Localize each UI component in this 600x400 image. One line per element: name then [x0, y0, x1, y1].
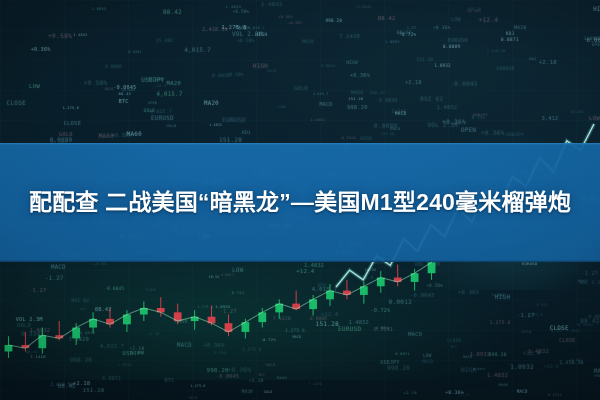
ticker-fragment: MACD — [320, 102, 333, 108]
ticker-fragment: BTC — [164, 378, 174, 384]
ticker-fragment: 998.20 — [207, 368, 229, 374]
ticker-fragment: KDJ — [242, 131, 251, 136]
ticker-fragment: 1,275.6 — [221, 25, 246, 31]
ticker-fragment: 998.20 — [467, 7, 481, 11]
ticker-fragment: MACD — [517, 389, 528, 394]
ticker-fragment: -1.27 — [457, 392, 470, 397]
ticker-fragment: HIGH — [255, 33, 267, 38]
ticker-fragment: +0.36% — [278, 15, 293, 19]
ticker-fragment: MA20 — [167, 81, 181, 87]
ticker-fragment: 1,275.6 — [63, 106, 79, 110]
ticker-fragment: KDJ — [506, 32, 515, 37]
ticker-fragment: -0.0045 — [355, 5, 372, 9]
ticker-fragment: LOW — [29, 84, 40, 90]
ticker-fragment: +2.18 — [404, 390, 417, 395]
ticker-fragment: LOW — [451, 17, 461, 23]
ticker-fragment: +0.36% — [350, 73, 370, 79]
ticker-fragment: EURUSD — [448, 38, 468, 44]
ticker-fragment: 151.28 — [348, 97, 363, 101]
ticker-fragment: BTC — [451, 345, 458, 349]
ticker-fragment: -0.72% — [399, 33, 416, 38]
ticker-fragment: MA60 — [277, 376, 287, 380]
ticker-fragment: 151.28 — [417, 57, 434, 62]
ticker-fragment: 998.20 — [370, 91, 385, 95]
ticker-fragment: 0.3341 — [128, 50, 142, 54]
ticker-fragment: 88.42 — [58, 384, 76, 390]
ticker-fragment: 1.4832 — [437, 105, 458, 111]
ticker-fragment: -0.0045 — [376, 99, 398, 104]
ticker-fragment: 0.0089 — [443, 45, 461, 50]
ticker-fragment: 4,015.7 — [184, 48, 211, 54]
ticker-fragment: 88.42 — [118, 92, 131, 96]
ticker-fragment: +0.58% — [288, 21, 302, 25]
banner-headline: 配配查 二战美国“暗黑龙”—美国M1型240毫米榴弹炮 — [22, 184, 578, 221]
ticker-fragment: MA20 — [204, 101, 219, 107]
ticker-fragment: BTC — [119, 99, 129, 105]
title-banner: 配配查 二战美国“暗黑龙”—美国M1型240毫米榴弹炮 — [0, 143, 600, 262]
ticker-fragment: +0.58% — [237, 39, 254, 44]
ticker-fragment: 4,015.7 — [157, 92, 183, 98]
ticker-fragment: 35,402 — [571, 110, 584, 114]
ticker-fragment: 88.42 — [163, 10, 182, 16]
ticker-fragment: MA60 — [351, 91, 363, 96]
ticker-fragment: MA20 — [189, 396, 198, 400]
ticker-fragment: OPEN — [148, 101, 157, 105]
ticker-fragment: CLOSE — [6, 100, 26, 107]
ticker-fragment: LOW — [278, 105, 285, 109]
ticker-fragment: +12.4 — [523, 351, 540, 357]
ticker-fragment: 998.20 — [347, 105, 368, 111]
ticker-fragment: 0.8871 — [501, 38, 519, 43]
ticker-fragment: MA60 — [499, 383, 509, 387]
ticker-fragment: 0.8871 — [102, 377, 121, 382]
ticker-fragment: +12.4 — [479, 17, 499, 24]
ticker-fragment: MACD — [594, 369, 600, 375]
ticker-fragment: 1.0932 — [435, 63, 451, 68]
ticker-fragment: -1.27 — [404, 26, 416, 30]
ticker-fragment: +12.4 — [155, 84, 166, 88]
ticker-fragment: +0.36% — [112, 133, 131, 139]
ticker-fragment: 998.20 — [326, 18, 343, 23]
ticker-fragment: 0.3341 — [548, 393, 562, 397]
ticker-fragment: 1.4832 — [311, 118, 325, 122]
ticker-fragment: MA60 — [99, 134, 114, 140]
ticker-fragment: 7.1420 — [309, 382, 322, 386]
ticker-fragment: BTC — [259, 373, 266, 377]
ticker-fragment: 1.0932 — [470, 352, 491, 358]
ticker-fragment: 35,402 — [122, 88, 136, 92]
ticker-fragment: MA20 — [463, 355, 472, 359]
ticker-fragment: 0.8871 — [473, 367, 486, 371]
ticker-fragment: 88.42 — [378, 16, 396, 22]
ticker-fragment: 1,275.6 — [190, 384, 205, 388]
ticker-fragment: 1.0932 — [567, 329, 581, 333]
ticker-fragment: GOLD — [144, 109, 156, 114]
ticker-fragment: CLOSE — [559, 338, 575, 344]
ticker-fragment: HIGH — [593, 7, 600, 13]
ticker-fragment: 35,402 — [156, 39, 173, 44]
ticker-fragment: MACD — [395, 112, 407, 117]
ticker-fragment: 0.0089 — [105, 64, 122, 69]
ticker-fragment: -1.27 — [517, 313, 535, 319]
ticker-fragment: -1.27 — [548, 329, 563, 334]
ticker-fragment: +0.36% — [31, 47, 51, 53]
ticker-fragment: 0.3341 — [578, 322, 594, 327]
ticker-fragment: +12.4 — [544, 365, 558, 370]
ticker-fragment: GOLD — [264, 390, 273, 394]
ticker-fragment: HIGH — [346, 61, 358, 66]
ticker-fragment: 1.4832 — [261, 2, 283, 8]
ticker-fragment: 1.0932 — [92, 7, 106, 11]
ticker-fragment: 4,015.7 — [313, 92, 328, 96]
ticker-fragment: +0.36% — [433, 26, 451, 31]
ticker-fragment: 4,015.7 — [248, 26, 265, 30]
ticker-fragment: 998.20 — [489, 353, 507, 358]
ticker-fragment: +2.18 — [539, 60, 557, 66]
ticker-fragment: RSI 62 — [420, 97, 443, 103]
ticker-fragment: EURUSD — [222, 117, 246, 124]
ticker-fragment: GOLD — [267, 69, 276, 73]
ticker-fragment: GOLD — [59, 132, 73, 138]
ticker-fragment: KDJ — [529, 57, 537, 61]
ticker-fragment: 1.0932 — [510, 364, 534, 371]
ticker-fragment: GOLD — [294, 86, 308, 92]
ticker-fragment: +0.58% — [227, 73, 244, 78]
ticker-fragment: OPEN — [522, 330, 532, 334]
ticker-fragment: EURUSD — [497, 67, 515, 72]
ticker-fragment: -0.0045 — [216, 374, 239, 380]
ticker-fragment: 151.28 — [83, 388, 105, 394]
ticker-fragment: HIGH — [253, 64, 268, 70]
promo-banner-image: -1.27RSI 6235,402HIGH1.4832OPENMA607.142… — [0, 0, 600, 400]
ticker-fragment: GOLD — [166, 124, 176, 128]
ticker-fragment: -0.0045 — [450, 81, 478, 88]
ticker-fragment: +2.18 — [405, 80, 422, 86]
ticker-fragment: CLOSE — [64, 121, 81, 127]
ticker-fragment: 3,412 — [537, 303, 548, 307]
ticker-fragment: MA20 — [242, 389, 253, 394]
ticker-fragment: +2.18 — [249, 379, 264, 384]
ticker-fragment: 7.1420 — [339, 34, 360, 40]
ticker-fragment: 2,418.50 — [559, 361, 583, 366]
ticker-fragment: +0.58% — [84, 80, 108, 87]
ticker-fragment: 1,275.6 — [490, 321, 511, 326]
ticker-fragment: 1.4832 — [487, 373, 508, 379]
ticker-fragment: CLOSE — [447, 338, 461, 343]
ticker-fragment: MA20 — [302, 40, 314, 45]
ticker-fragment: +0.58% — [48, 33, 72, 40]
ticker-fragment: -0.0045 — [319, 64, 335, 68]
ticker-fragment: 1.0932 — [385, 40, 400, 44]
ticker-fragment: 2,418.50 — [487, 49, 506, 53]
ticker-fragment: EURUSD — [151, 116, 174, 122]
ticker-fragment: HIGH — [148, 77, 163, 83]
ticker-fragment: MA20 — [514, 26, 527, 31]
ticker-fragment: 1.4832 — [209, 123, 222, 127]
ticker-fragment: 0.0012 — [589, 315, 600, 320]
ticker-fragment: 0.0089 — [587, 38, 600, 44]
ticker-fragment: 1.4832 — [73, 33, 87, 37]
ticker-fragment: +0.58% — [233, 9, 250, 14]
